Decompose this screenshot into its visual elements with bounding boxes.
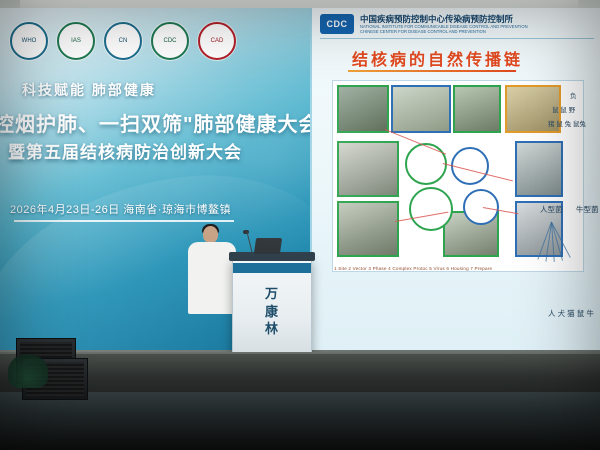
podium-brand-char-2: 康 xyxy=(233,303,311,321)
laptop-on-podium xyxy=(254,238,282,254)
logo-emblem-4-label: CDC xyxy=(164,38,177,44)
slide-title: 结核病的自然传播链 xyxy=(352,46,523,70)
podium-brand-char-1: 万 xyxy=(233,285,311,303)
fan-line-5 xyxy=(537,222,552,260)
podium-brand: 万 康 林 xyxy=(233,285,311,338)
logo-emblem-2-label: IAS xyxy=(71,38,81,44)
photo-node-herd xyxy=(453,85,501,133)
stage-plant xyxy=(8,354,48,388)
cdc-logo-icon: CDC xyxy=(320,14,354,34)
slide-label-reservoir-2: 猪 鼠 兔 鼠兔 xyxy=(548,118,586,128)
slide-label-reservoir-1: 鼠 鼠 野 xyxy=(552,104,575,114)
slide-title-underline xyxy=(348,70,516,72)
photo-node-lab xyxy=(515,141,563,197)
slide-header: CDC 中国疾病预防控制中心传染病预防控制所 NATIONAL INSTITUT… xyxy=(320,14,528,35)
diagram-node-circle-4 xyxy=(463,189,499,225)
slide-label-negative: 负 xyxy=(570,90,577,100)
photo-node-cattle-1 xyxy=(337,141,399,197)
title-underline xyxy=(14,220,234,222)
speaker-head xyxy=(203,226,218,243)
photo-node-crowd xyxy=(337,85,389,133)
logo-emblem-3-icon: CN xyxy=(104,22,142,60)
logo-emblem-5-icon: CAD xyxy=(198,22,236,60)
diagram-node-circle-1 xyxy=(405,143,447,185)
conference-date-venue: 2026年4月23日-26日 海南省·琼海市博鳌镇 xyxy=(10,201,231,217)
logo-emblem-3-label: CN xyxy=(119,38,128,44)
logo-emblem-4-icon: CDC xyxy=(151,22,189,60)
led-right-panel: CDC 中国疾病预防控制中心传染病预防控制所 NATIONAL INSTITUT… xyxy=(310,8,600,350)
slide-label-human-strain: 人型菌 xyxy=(540,204,563,215)
logo-emblem-2-icon: IAS xyxy=(57,22,95,60)
slide-label-hosts: 人 犬 猫 鼠 牛 xyxy=(548,308,594,319)
slide-org-en-2: CHINESE CENTER FOR DISEASE CONTROL AND P… xyxy=(360,29,528,34)
floor xyxy=(0,354,600,450)
slide-label-bovine-strain: 牛型菌 xyxy=(576,204,599,215)
podium-brand-char-3: 林 xyxy=(233,320,311,338)
logo-row: WHO IAS CN CDC CAD xyxy=(10,22,236,60)
podium-accent-band xyxy=(233,263,311,273)
logo-emblem-1-icon: WHO xyxy=(10,22,48,60)
slide-org-block: 中国疾病预防控制中心传染病预防控制所 NATIONAL INSTITUTE FO… xyxy=(360,14,528,35)
photo-node-village xyxy=(391,85,451,133)
conference-title-line-2: 暨第五届结核病防治创新大会 xyxy=(8,138,242,163)
conference-headline: 科技赋能 肺部健康 xyxy=(22,80,156,100)
slide-org-cn: 中国疾病预防控制中心传染病预防控制所 xyxy=(360,14,528,24)
cdc-logo-label: CDC xyxy=(327,19,348,29)
logo-emblem-5-label: CAD xyxy=(211,38,224,44)
conference-title-line-1: 控烟护肺、一扫双筛"肺部健康大会 xyxy=(0,108,319,137)
photo-node-cattle-2 xyxy=(337,201,399,257)
slide-header-divider xyxy=(320,38,594,39)
slide-fan-lines xyxy=(508,222,598,276)
screenshot-root: WHO IAS CN CDC CAD 科技赋能 肺部健康 控烟护肺、一扫双筛"肺… xyxy=(0,0,600,450)
logo-emblem-1-label: WHO xyxy=(22,38,37,44)
diagram-caption: 1 Site 2 Vector 3 Phase 4 Complex Protoc… xyxy=(334,266,492,271)
diagram-node-circle-3 xyxy=(409,187,453,231)
